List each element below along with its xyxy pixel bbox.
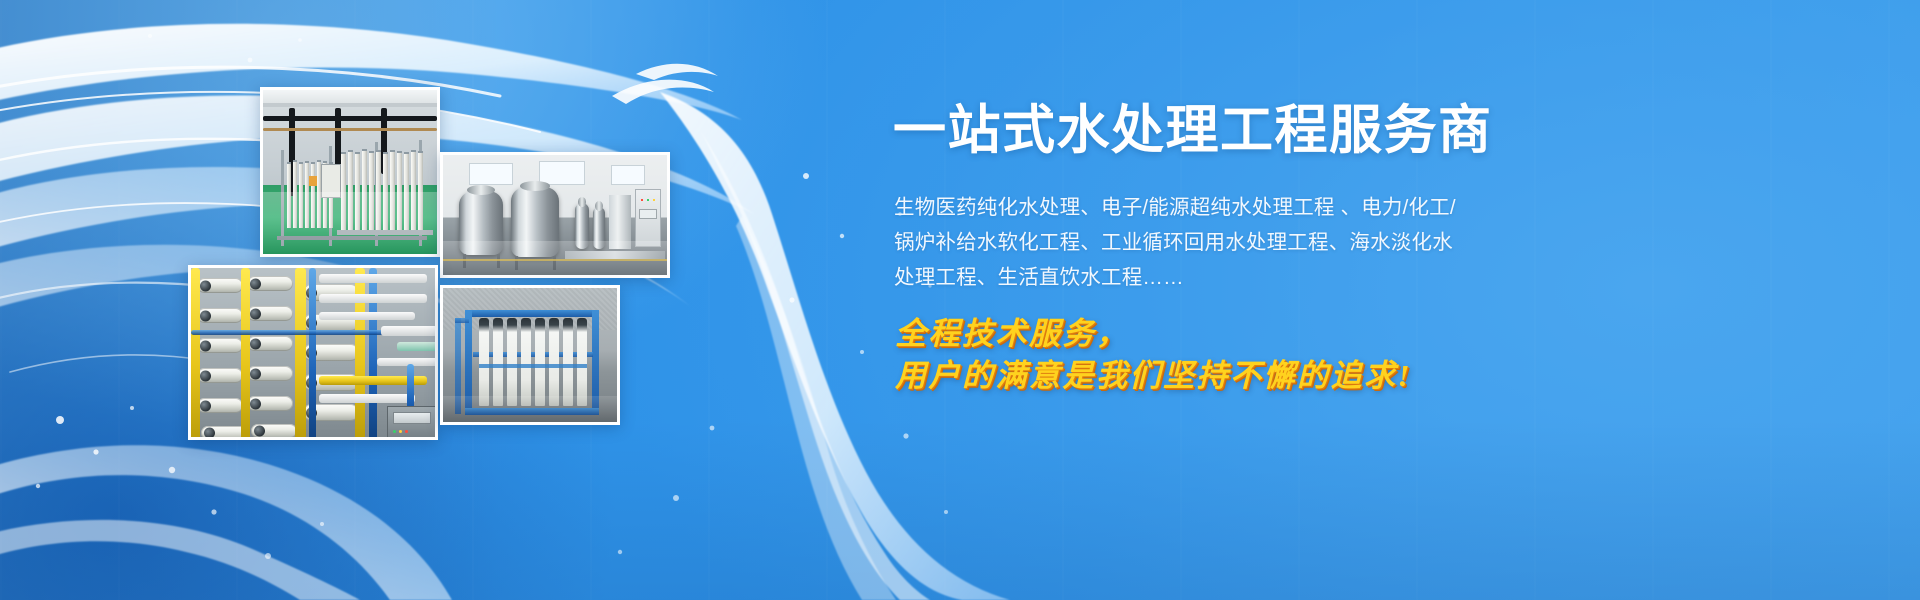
photo-ultrafiltration-system	[260, 87, 440, 257]
hero-banner: 一站式水处理工程服务商 生物医药纯化水处理、电子/能源超纯水处理工程 、电力/化…	[0, 0, 1920, 600]
banner-slogan: 全程技术服务， 用户的满意是我们坚持不懈的追求!	[895, 313, 1495, 397]
slogan-line-1: 全程技术服务，	[895, 313, 1495, 355]
photo-collage	[0, 0, 720, 600]
banner-headline: 一站式水处理工程服务商	[893, 104, 1493, 157]
photo-stainless-steel-tanks	[440, 152, 670, 278]
slogan-line-2: 用户的满意是我们坚持不懈的追求!	[895, 355, 1495, 397]
banner-description: 生物医药纯化水处理、电子/能源超纯水处理工程 、电力/化工/锅炉补给水软化工程、…	[894, 190, 1472, 295]
banner-copy: 一站式水处理工程服务商 生物医药纯化水处理、电子/能源超纯水处理工程 、电力/化…	[893, 0, 1513, 600]
photo-ro-membrane-vessels	[188, 265, 438, 440]
photo-uf-skid-unit	[440, 285, 620, 425]
